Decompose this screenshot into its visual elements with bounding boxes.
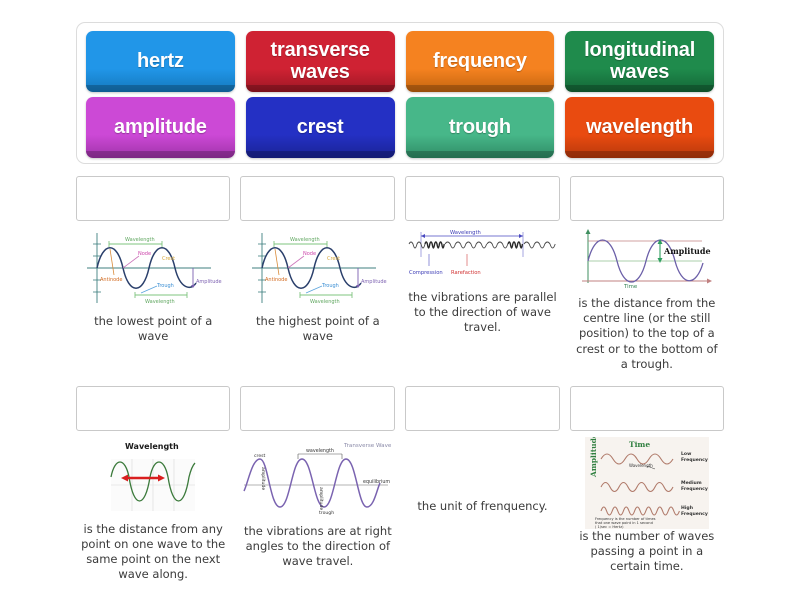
wavelength-arrow-figure: Wavelength: [89, 437, 217, 515]
word-tile-longitudinal-waves[interactable]: longitudinal waves: [565, 31, 714, 92]
answer-cell-longitudinal-waves: Wavelength Compression Rarefaction the v…: [405, 176, 559, 372]
svg-text:Frequency: Frequency: [681, 511, 708, 517]
frequency-chart-figure: Time Amplitude Low Frequency Medium Freq…: [585, 437, 709, 529]
word-bank: hertz transverse waves frequency longitu…: [76, 22, 724, 164]
svg-text:Wavelength: Wavelength: [125, 237, 155, 243]
answer-description: the vibrations are parallel to the direc…: [405, 290, 559, 336]
answer-description: the unit of frenquency.: [415, 499, 549, 514]
svg-text:Amplitude: Amplitude: [663, 246, 711, 256]
word-tile-frequency[interactable]: frequency: [406, 31, 555, 92]
svg-text:Transverse Wave: Transverse Wave: [343, 443, 392, 449]
word-tile-transverse-waves[interactable]: transverse waves: [246, 31, 395, 92]
transverse-wave-labelled-figure: Wavelength Wavelength Node Crest Antinod…: [248, 227, 388, 307]
svg-text:Node: Node: [303, 251, 316, 257]
answer-cell-frequency: Time Amplitude Low Frequency Medium Freq…: [570, 386, 724, 583]
answer-description: is the number of waves passing a point i…: [570, 529, 724, 575]
svg-text:Wavelength: Wavelength: [629, 463, 653, 468]
svg-text:Antinode: Antinode: [265, 277, 287, 283]
dropzone-frequency[interactable]: [570, 386, 724, 431]
svg-text:Medium: Medium: [681, 480, 702, 486]
answer-description: is the distance from the centre line (or…: [570, 296, 724, 372]
word-tile-trough[interactable]: trough: [406, 97, 555, 158]
amplitude-wave-figure: Amplitude Time: [572, 227, 722, 289]
word-tile-crest[interactable]: crest: [246, 97, 395, 158]
svg-text:Wavelength: Wavelength: [310, 299, 340, 305]
svg-text:Rarefaction: Rarefaction: [451, 270, 481, 276]
answer-cell-body: the unit of frenquency.: [405, 431, 559, 583]
svg-text:Wavelength: Wavelength: [145, 299, 175, 305]
answer-cell-hertz: the unit of frenquency.: [405, 386, 559, 583]
answer-cell-wavelength: Wavelength is the distance from any poin…: [76, 386, 230, 583]
svg-text:crest: crest: [254, 453, 266, 459]
dropzone-transverse-waves[interactable]: [240, 386, 395, 431]
answer-cell-body: Time Amplitude Low Frequency Medium Freq…: [570, 431, 724, 583]
answer-description: the highest point of a wave: [240, 314, 395, 344]
svg-text:Low: Low: [681, 451, 692, 457]
word-tile-label: wavelength: [586, 117, 693, 139]
answer-cell-body: Wavelength is the distance from any poin…: [76, 431, 230, 583]
svg-text:wavelength: wavelength: [306, 448, 334, 454]
word-tile-hertz[interactable]: hertz: [86, 31, 235, 92]
dropzone-trough[interactable]: [76, 176, 230, 221]
word-tile-label: longitudinal waves: [569, 40, 710, 83]
svg-text:Wavelength: Wavelength: [450, 230, 481, 236]
svg-text:Wavelength: Wavelength: [290, 237, 320, 243]
svg-text:High: High: [681, 505, 693, 511]
svg-text:Antinode: Antinode: [100, 277, 122, 283]
word-bank-row-2: amplitude crest trough wavelength: [86, 97, 714, 158]
svg-text:Amplitude: Amplitude: [196, 279, 222, 285]
svg-text:equilibrium: equilibrium: [363, 479, 390, 485]
answer-cell-transverse-waves: Transverse Wave wavelength crest amplitu…: [240, 386, 395, 583]
word-tile-amplitude[interactable]: amplitude: [86, 97, 235, 158]
answer-description: the vibrations are at right angles to th…: [240, 524, 395, 570]
answer-cell-body: Wavelength Wavelength Node Crest Antinod…: [240, 221, 395, 372]
svg-text:Wavelength: Wavelength: [125, 442, 179, 451]
svg-text:Amplitude: Amplitude: [361, 279, 387, 285]
svg-text:Crest: Crest: [162, 256, 175, 262]
answer-description: the lowest point of a wave: [76, 314, 230, 344]
svg-text:Trough: Trough: [156, 283, 174, 289]
svg-text:Compression: Compression: [409, 270, 443, 276]
svg-text:Trough: Trough: [321, 283, 339, 289]
svg-text:Amplitude: Amplitude: [589, 437, 598, 478]
word-tile-wavelength[interactable]: wavelength: [565, 97, 714, 158]
svg-text:trough: trough: [319, 510, 334, 516]
svg-text:Frequency: Frequency: [681, 457, 708, 463]
word-tile-label: frequency: [433, 51, 527, 73]
answer-cell-crest: Wavelength Wavelength Node Crest Antinod…: [240, 176, 395, 372]
answer-cell-body: Wavelength Compression Rarefaction the v…: [405, 221, 559, 372]
svg-text:Crest: Crest: [327, 256, 340, 262]
answer-description: is the distance from any point on one wa…: [76, 522, 230, 583]
transverse-wave-purple-figure: Transverse Wave wavelength crest amplitu…: [240, 437, 395, 517]
answer-grid: Wavelength Wavelength Node Crest Antinod…: [76, 176, 724, 580]
answer-cell-body: Wavelength Wavelength Node Crest Antinod…: [76, 221, 230, 372]
match-up-activity: hertz transverse waves frequency longitu…: [0, 0, 800, 600]
svg-text:Node: Node: [138, 251, 151, 257]
word-tile-label: crest: [297, 117, 344, 139]
dropzone-wavelength[interactable]: [76, 386, 230, 431]
dropzone-hertz[interactable]: [405, 386, 559, 431]
answer-cell-amplitude: Amplitude Time is the distance from the …: [570, 176, 724, 372]
dropzone-crest[interactable]: [240, 176, 395, 221]
dropzone-longitudinal-waves[interactable]: [405, 176, 559, 221]
word-tile-label: amplitude: [114, 117, 207, 139]
answer-cell-trough: Wavelength Wavelength Node Crest Antinod…: [76, 176, 230, 372]
dropzone-amplitude[interactable]: [570, 176, 724, 221]
svg-text:Time: Time: [629, 440, 650, 449]
longitudinal-wave-figure: Wavelength Compression Rarefaction: [407, 227, 557, 283]
svg-text:amplitude: amplitude: [318, 487, 324, 510]
word-tile-label: hertz: [137, 51, 184, 73]
svg-text:Frequency: Frequency: [681, 486, 708, 492]
svg-text:amplitude: amplitude: [260, 467, 266, 490]
answer-cell-body: Amplitude Time is the distance from the …: [570, 221, 724, 372]
word-bank-row-1: hertz transverse waves frequency longitu…: [86, 31, 714, 92]
transverse-wave-labelled-figure: Wavelength Wavelength Node Crest Antinod…: [83, 227, 223, 307]
svg-text:Time: Time: [623, 284, 638, 289]
word-tile-label: trough: [449, 117, 511, 139]
answer-cell-body: Transverse Wave wavelength crest amplitu…: [240, 431, 395, 583]
word-tile-label: transverse waves: [250, 40, 391, 83]
